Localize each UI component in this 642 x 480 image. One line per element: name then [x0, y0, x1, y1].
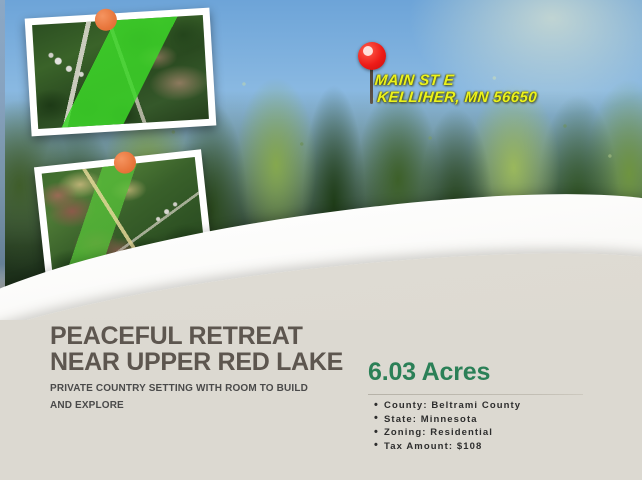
subheadline-line-1: PRIVATE COUNTRY SETTING WITH ROOM TO BUI…: [50, 380, 340, 397]
list-item: County: Beltrami County: [384, 399, 521, 413]
headline-line-2: NEAR UPPER RED LAKE: [50, 349, 380, 375]
headline-line-1: PEACEFUL RETREAT: [50, 323, 380, 349]
land-listing-flyer: MAIN ST E KELLIHER, MN 56650 PEACEFUL RE…: [0, 0, 642, 480]
page-title: PEACEFUL RETREAT NEAR UPPER RED LAKE: [50, 323, 380, 375]
details-divider: [368, 394, 583, 395]
list-item: Zoning: Residential: [384, 426, 521, 440]
flyer-content: PEACEFUL RETREAT NEAR UPPER RED LAKE PRI…: [0, 0, 642, 480]
acreage-value: 6.03 Acres: [368, 358, 490, 387]
list-item: State: Minnesota: [384, 413, 521, 427]
property-facts-list: County: Beltrami County State: Minnesota…: [370, 399, 521, 453]
list-item: Tax Amount: $108: [384, 440, 521, 454]
page-subtitle: PRIVATE COUNTRY SETTING WITH ROOM TO BUI…: [50, 380, 340, 414]
subheadline-line-2: AND EXPLORE: [50, 397, 340, 414]
